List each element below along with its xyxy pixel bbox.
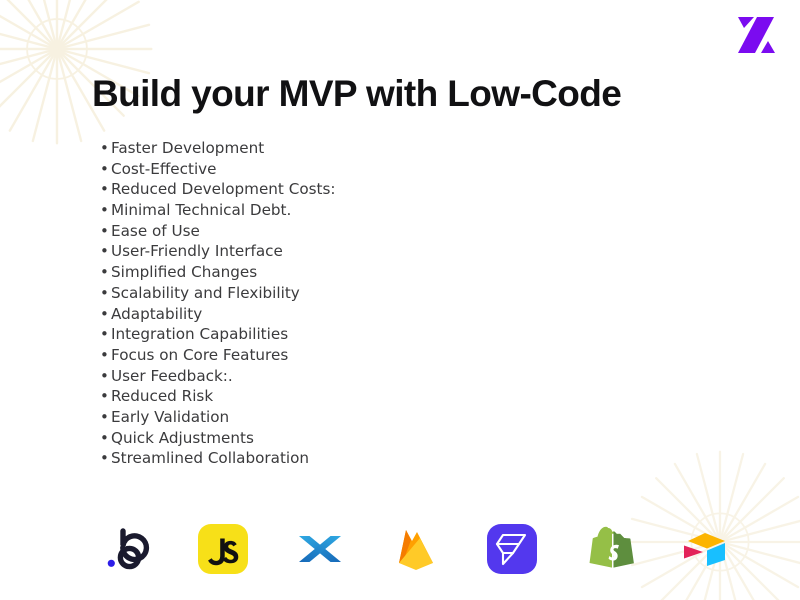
bullet-marker-icon: • xyxy=(100,369,110,384)
bullet-marker-icon: • xyxy=(100,224,110,239)
bullet-marker-icon: • xyxy=(100,348,110,363)
bullet-marker-icon: • xyxy=(100,389,110,404)
bullet-marker-icon: • xyxy=(100,307,110,322)
list-item: •Reduced Development Costs: xyxy=(100,180,336,201)
bubble-logo-icon xyxy=(96,518,158,580)
nexus-x-logo-icon xyxy=(289,518,351,580)
shopify-logo-icon xyxy=(578,518,640,580)
bullet-marker-icon: • xyxy=(100,286,110,301)
page-title: Build your MVP with Low-Code xyxy=(92,73,621,115)
list-item-label: Reduced Risk xyxy=(111,387,213,405)
list-item: •Ease of Use xyxy=(100,222,336,243)
bullet-marker-icon: • xyxy=(100,182,110,197)
list-item-label: Streamlined Collaboration xyxy=(111,449,309,467)
framer-logo-icon xyxy=(481,518,543,580)
list-item-label: Integration Capabilities xyxy=(111,325,288,343)
list-item-label: Simplified Changes xyxy=(111,263,257,281)
list-item-label: Adaptability xyxy=(111,305,202,323)
list-item: •Quick Adjustments xyxy=(100,429,336,450)
list-item: •Adaptability xyxy=(100,305,336,326)
bullet-marker-icon: • xyxy=(100,431,110,446)
technology-logo-strip xyxy=(96,517,736,581)
bullet-marker-icon: • xyxy=(100,141,110,156)
zc-brand-mark-icon xyxy=(734,14,778,56)
bullet-marker-icon: • xyxy=(100,410,110,425)
bullet-marker-icon: • xyxy=(100,265,110,280)
list-item-label: Quick Adjustments xyxy=(111,429,254,447)
list-item: •Focus on Core Features xyxy=(100,346,336,367)
list-item-label: Minimal Technical Debt. xyxy=(111,201,291,219)
list-item: •Scalability and Flexibility xyxy=(100,284,336,305)
list-item-label: Ease of Use xyxy=(111,222,200,240)
list-item-label: Cost-Effective xyxy=(111,160,217,178)
list-item-label: Early Validation xyxy=(111,408,229,426)
list-item: •Cost-Effective xyxy=(100,160,336,181)
firebase-logo-icon xyxy=(385,518,447,580)
list-item: •User-Friendly Interface xyxy=(100,242,336,263)
bullet-marker-icon: • xyxy=(100,451,110,466)
list-item-label: Reduced Development Costs: xyxy=(111,180,336,198)
list-item: •Simplified Changes xyxy=(100,263,336,284)
list-item-label: Focus on Core Features xyxy=(111,346,288,364)
bullet-marker-icon: • xyxy=(100,162,110,177)
list-item: •Reduced Risk xyxy=(100,387,336,408)
list-item: •Early Validation xyxy=(100,408,336,429)
list-item-label: User-Friendly Interface xyxy=(111,242,283,260)
list-item-label: User Feedback:. xyxy=(111,367,233,385)
list-item: •Faster Development xyxy=(100,139,336,160)
list-item: •Streamlined Collaboration xyxy=(100,449,336,470)
bullet-marker-icon: • xyxy=(100,327,110,342)
list-item-label: Scalability and Flexibility xyxy=(111,284,300,302)
javascript-logo-icon xyxy=(192,518,254,580)
bullet-marker-icon: • xyxy=(100,203,110,218)
list-item: •User Feedback:. xyxy=(100,367,336,388)
slide-canvas: Build your MVP with Low-Code •Faster Dev… xyxy=(0,0,800,600)
list-item: •Minimal Technical Debt. xyxy=(100,201,336,222)
list-item-label: Faster Development xyxy=(111,139,264,157)
list-item: •Integration Capabilities xyxy=(100,325,336,346)
airtable-cube-logo-icon xyxy=(674,518,736,580)
feature-bullet-list: •Faster Development •Cost-Effective •Red… xyxy=(100,139,336,470)
bullet-marker-icon: • xyxy=(100,244,110,259)
